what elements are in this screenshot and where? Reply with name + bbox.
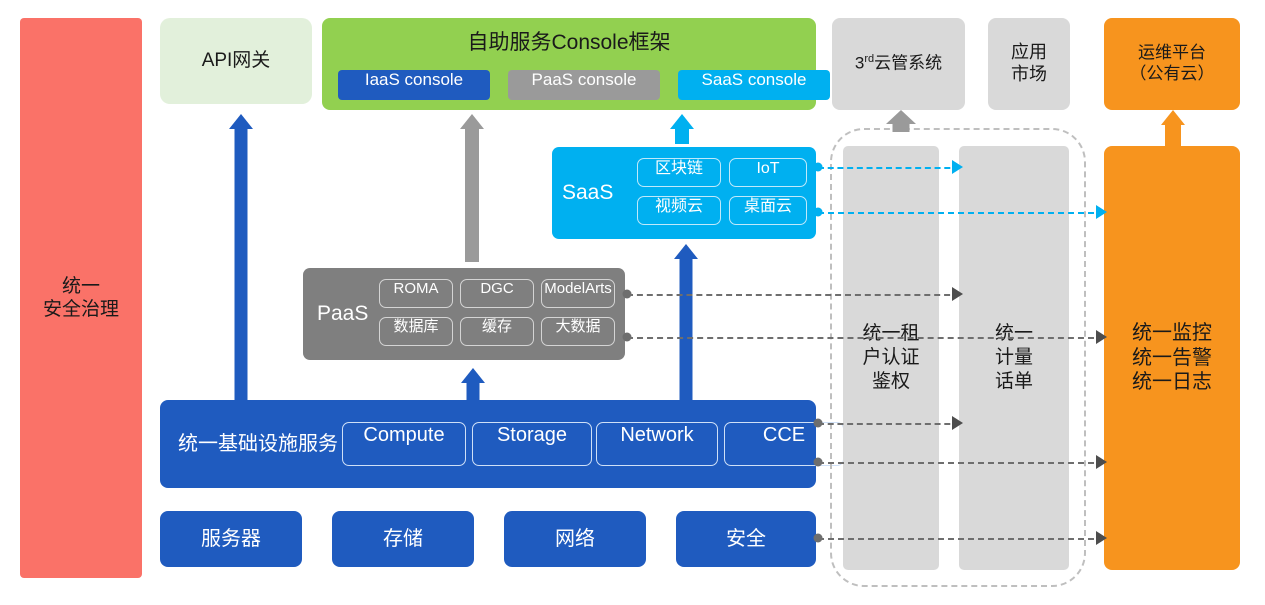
- arrow-up-paas-to-console: [458, 114, 486, 262]
- resource-box-server[interactable]: 服务器: [160, 511, 302, 567]
- arrow-up-infra-to-paas: [460, 368, 486, 404]
- arrow-up-infra-to-saas: [673, 244, 699, 404]
- infra-chip-storage[interactable]: Storage: [472, 422, 592, 466]
- connector-arrowhead-resources: [1096, 531, 1107, 545]
- connector-infra-to-metering: [818, 423, 960, 425]
- security-governance-column[interactable]: 统一 安全治理: [20, 18, 142, 578]
- connector-infra-to-ops: [818, 462, 1104, 464]
- unified-metering-column[interactable]: 统一 计量 话单: [959, 146, 1069, 570]
- saas-chip-blockchain[interactable]: 区块链: [637, 158, 721, 187]
- resource-box-network[interactable]: 网络: [504, 511, 646, 567]
- console-framework-panel[interactable]: 自助服务Console框架 IaaS console PaaS console …: [322, 18, 816, 110]
- connector-arrowhead-saas-2: [1096, 205, 1107, 219]
- infrastructure-panel[interactable]: 统一基础设施服务 Compute Storage Network CCE: [160, 400, 816, 488]
- third-party-label: 3rd云管系统: [855, 53, 942, 74]
- unified-tenant-auth-column[interactable]: 统一租 户认证 鉴权: [843, 146, 939, 570]
- resource-box-security[interactable]: 安全: [676, 511, 816, 567]
- console-framework-title: 自助服务Console框架: [322, 30, 816, 56]
- paas-console-chip[interactable]: PaaS console: [508, 70, 660, 100]
- paas-panel[interactable]: PaaS ROMA DGC ModelArts 数据库 缓存 大数据: [303, 268, 625, 360]
- paas-chip-dgc[interactable]: DGC: [460, 279, 534, 308]
- infra-chip-cce[interactable]: CCE: [724, 422, 844, 466]
- connector-arrowhead-infra-1: [952, 416, 963, 430]
- paas-label: PaaS: [317, 301, 368, 327]
- paas-chip-roma[interactable]: ROMA: [379, 279, 453, 308]
- connector-saas-to-ops: [818, 212, 1104, 214]
- saas-console-chip[interactable]: SaaS console: [678, 70, 830, 100]
- arrow-up-ops-column-to-ops-platform: [1159, 110, 1187, 150]
- saas-chip-desktop-cloud[interactable]: 桌面云: [729, 196, 807, 225]
- saas-panel[interactable]: SaaS 区块链 IoT 视频云 桌面云: [552, 147, 816, 239]
- infra-chip-network[interactable]: Network: [596, 422, 718, 466]
- paas-chip-database[interactable]: 数据库: [379, 317, 453, 346]
- infra-chip-compute[interactable]: Compute: [342, 422, 466, 466]
- paas-chip-modelarts[interactable]: ModelArts: [541, 279, 615, 308]
- paas-chip-bigdata[interactable]: 大数据: [541, 317, 615, 346]
- paas-chip-cache[interactable]: 缓存: [460, 317, 534, 346]
- saas-label: SaaS: [562, 180, 613, 206]
- connector-paas-to-metering: [627, 294, 960, 296]
- arrow-up-shared-to-third-party: [884, 110, 918, 132]
- infrastructure-label: 统一基础设施服务: [178, 432, 338, 456]
- resource-box-storage[interactable]: 存储: [332, 511, 474, 567]
- connector-arrowhead-paas-1: [952, 287, 963, 301]
- arrow-up-saas-to-console: [668, 114, 696, 144]
- third-party-cloud-mgmt-box[interactable]: 3rd云管系统: [832, 18, 965, 110]
- unified-monitoring-column[interactable]: 统一监控 统一告警 统一日志: [1104, 146, 1240, 570]
- connector-paas-to-ops: [627, 337, 1104, 339]
- iaas-console-chip[interactable]: IaaS console: [338, 70, 490, 100]
- app-market-box[interactable]: 应用 市场: [988, 18, 1070, 110]
- arrow-up-infra-to-api-gateway: [228, 114, 254, 404]
- connector-resources-to-ops: [818, 538, 1104, 540]
- saas-chip-iot[interactable]: IoT: [729, 158, 807, 187]
- ops-platform-box[interactable]: 运维平台 （公有云）: [1104, 18, 1240, 110]
- connector-saas-to-metering: [818, 167, 960, 169]
- architecture-diagram: 统一 安全治理 API网关 自助服务Console框架 IaaS console…: [0, 0, 1265, 605]
- connector-arrowhead-paas-2: [1096, 330, 1107, 344]
- api-gateway-box[interactable]: API网关: [160, 18, 312, 104]
- connector-arrowhead-infra-2: [1096, 455, 1107, 469]
- saas-chip-video-cloud[interactable]: 视频云: [637, 196, 721, 225]
- connector-arrowhead-saas-1: [952, 160, 963, 174]
